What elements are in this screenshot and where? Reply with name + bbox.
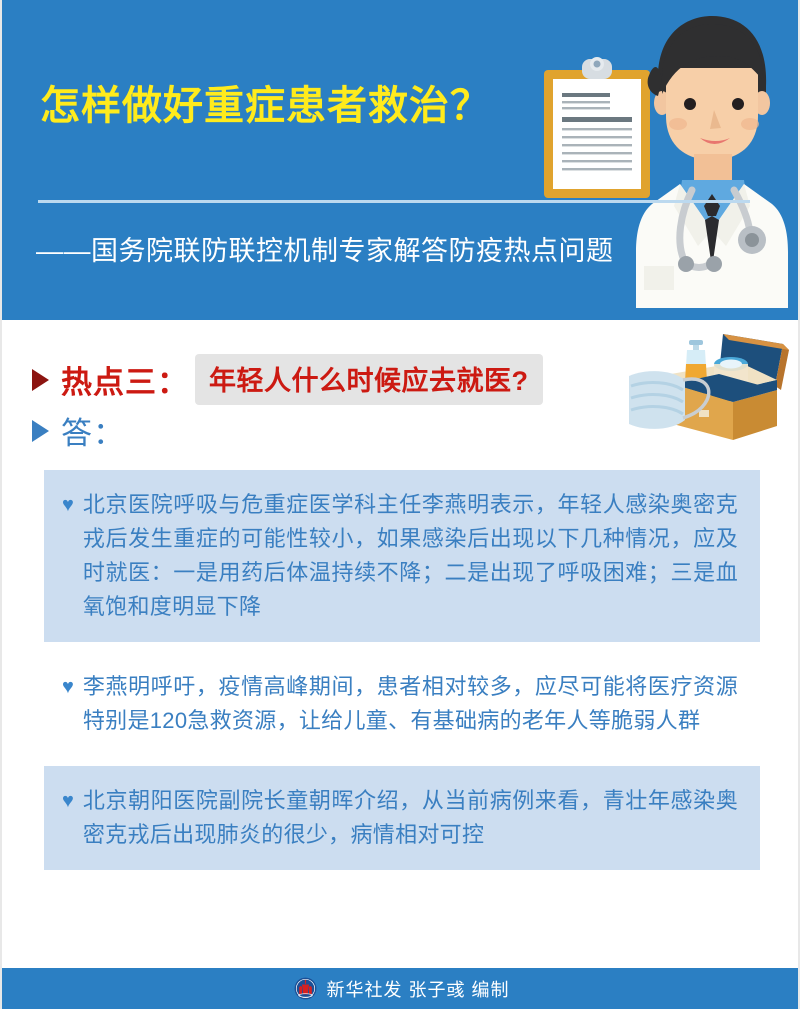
answer-label: 答： (61, 408, 125, 453)
page-subtitle: ——国务院联防联控机制专家解答防疫热点问题 (36, 238, 614, 265)
xinhua-logo-icon (294, 977, 317, 1000)
doctor-illustration (622, 8, 800, 308)
heart-icon: ♥ (62, 670, 74, 704)
page-title: 怎样做好重症患者救治？ (40, 86, 491, 126)
footer-bar: 新华社发 张子彧 编制 (2, 968, 800, 1009)
answer-block: ♥ 北京朝阳医院副院长童朝晖介绍，从当前病例来看，青壮年感染奥密克戎后出现肺炎的… (44, 766, 760, 870)
answer-row: 答： (32, 408, 125, 453)
footer-credit: 新华社发 张子彧 编制 (326, 976, 509, 1002)
hot-topic-label: 热点三： (61, 357, 189, 402)
answer-block-list: ♥ 北京医院呼吸与危重症医学科主任李燕明表示，年轻人感染奥密克戎后发生重症的可能… (44, 470, 760, 880)
answer-text: 北京朝阳医院副院长童朝晖介绍，从当前病例来看，青壮年感染奥密克戎后出现肺炎的很少… (83, 784, 738, 852)
header-divider (38, 200, 750, 203)
triangle-right-icon (32, 369, 49, 391)
heart-icon: ♥ (62, 488, 74, 522)
header-banner: 怎样做好重症患者救治？ ——国务院联防联控机制专家解答防疫热点问题 (2, 0, 800, 320)
answer-text: 李燕明呼吁，疫情高峰期间，患者相对较多，应尽可能将医疗资源特别是120急救资源，… (83, 670, 738, 738)
hot-topic-row: 热点三： 年轻人什么时候应去就医? (32, 354, 543, 405)
content-area: 热点三： 年轻人什么时候应去就医? 答： ♥ 北京医院呼吸与危重症医学科主任李燕… (2, 320, 800, 968)
triangle-right-icon (32, 420, 49, 442)
infographic-page: 怎样做好重症患者救治？ ——国务院联防联控机制专家解答防疫热点问题 (0, 0, 800, 1009)
medical-kit-illustration (627, 328, 795, 446)
answer-text: 北京医院呼吸与危重症医学科主任李燕明表示，年轻人感染奥密克戎后发生重症的可能性较… (83, 488, 738, 624)
heart-icon: ♥ (62, 784, 74, 818)
question-badge: 年轻人什么时候应去就医? (195, 354, 543, 405)
answer-block: ♥ 北京医院呼吸与危重症医学科主任李燕明表示，年轻人感染奥密克戎后发生重症的可能… (44, 470, 760, 642)
answer-block: ♥ 李燕明呼吁，疫情高峰期间，患者相对较多，应尽可能将医疗资源特别是120急救资… (44, 652, 760, 756)
